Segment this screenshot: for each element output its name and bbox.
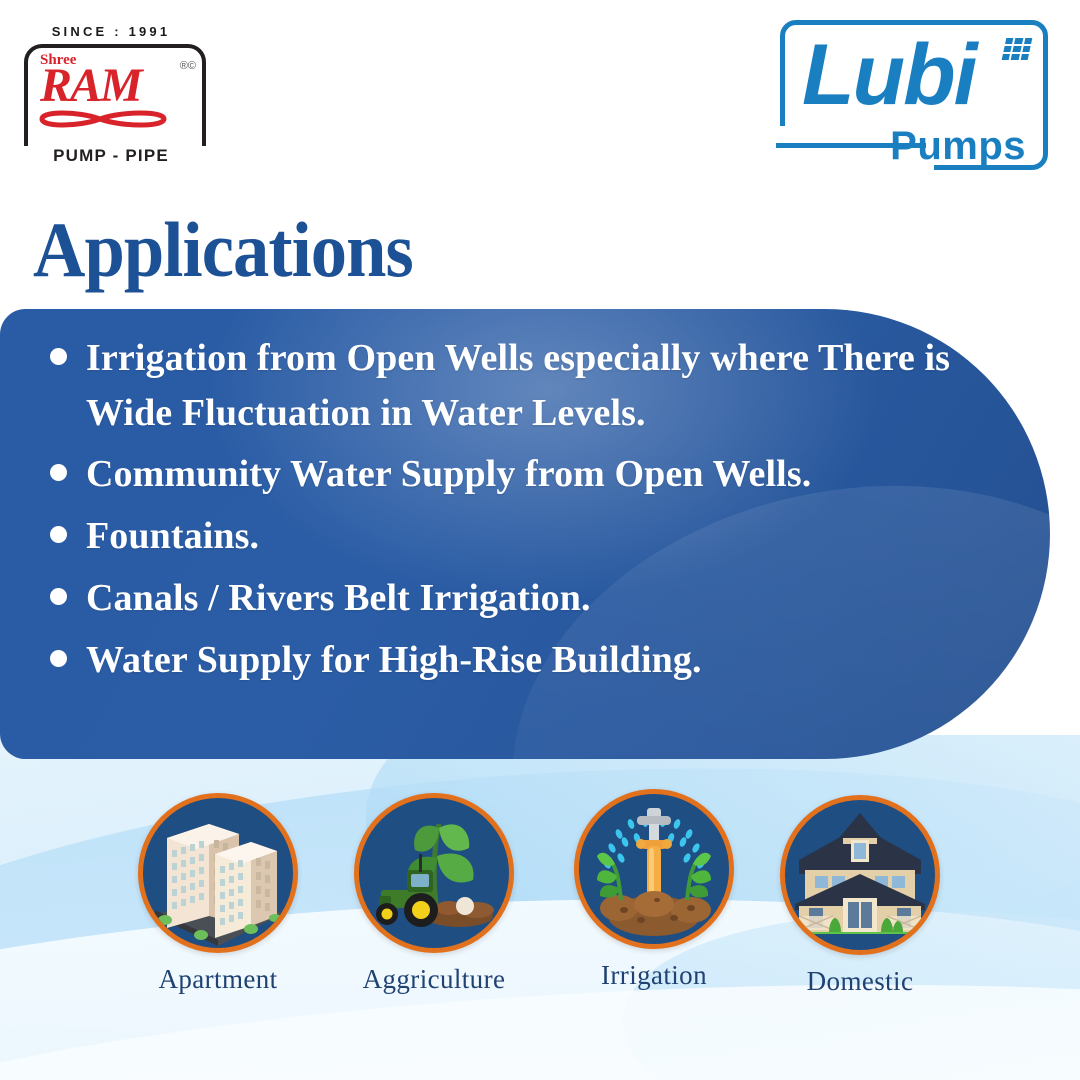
lubi-grid-dot-icon	[1002, 38, 1033, 60]
page-title: Applications	[33, 211, 413, 289]
lubi-pumps-text: Pumps	[890, 126, 1026, 166]
bullet-text: Fountains.	[86, 509, 259, 564]
tractor-plant-icon	[354, 793, 514, 953]
bullet-text: Water Supply for High-Rise Building.	[86, 633, 702, 688]
lubi-wordmark: Lubi	[802, 32, 976, 118]
bullet-dot-icon	[50, 348, 67, 365]
bullet-dot-icon	[50, 464, 67, 481]
application-label: Apartment	[130, 964, 306, 995]
pump-pipe-tagline: PUMP - PIPE	[16, 146, 206, 166]
application-label: Domestic	[772, 966, 948, 997]
bullet-text: Canals / Rivers Belt Irrigation.	[86, 571, 591, 626]
bullet-dot-icon	[50, 588, 67, 605]
lubi-pumps-logo: Lubi Pumps	[780, 20, 1048, 170]
applications-bullet-list: Irrigation from Open Wells especially wh…	[40, 331, 1000, 694]
house-icon	[780, 795, 940, 955]
applications-poster: SINCE : 1991 Shree RAM ®© PUMP - PIPE Lu…	[0, 0, 1080, 1080]
application-label: Aggriculture	[346, 964, 522, 995]
since-label: SINCE : 1991	[16, 24, 206, 39]
list-item: Canals / Rivers Belt Irrigation.	[40, 571, 1000, 626]
application-item-irrigation[interactable]: Irrigation	[566, 789, 742, 991]
bullet-text: Irrigation from Open Wells especially wh…	[86, 331, 1000, 440]
list-item: Community Water Supply from Open Wells.	[40, 447, 1000, 502]
list-item: Water Supply for High-Rise Building.	[40, 633, 1000, 688]
apartment-buildings-icon	[138, 793, 298, 953]
bullet-text: Community Water Supply from Open Wells.	[86, 447, 811, 502]
application-label: Irrigation	[566, 960, 742, 991]
applications-panel: Irrigation from Open Wells especially wh…	[0, 309, 1050, 759]
application-icon-row: Apartment	[0, 793, 1080, 1053]
application-item-agriculture[interactable]: Aggriculture	[346, 793, 522, 995]
registered-mark: ®©	[180, 60, 196, 72]
list-item: Fountains.	[40, 509, 1000, 564]
application-item-apartment[interactable]: Apartment	[130, 793, 306, 995]
sprinkler-icon	[574, 789, 734, 949]
bullet-dot-icon	[50, 526, 67, 543]
bullet-dot-icon	[50, 650, 67, 667]
shree-ram-logo: SINCE : 1991 Shree RAM ®© PUMP - PIPE	[16, 24, 206, 164]
application-item-domestic[interactable]: Domestic	[772, 795, 948, 997]
ram-swirl-icon	[38, 108, 168, 130]
list-item: Irrigation from Open Wells especially wh…	[40, 331, 1000, 440]
ram-wordmark: RAM	[40, 62, 141, 110]
